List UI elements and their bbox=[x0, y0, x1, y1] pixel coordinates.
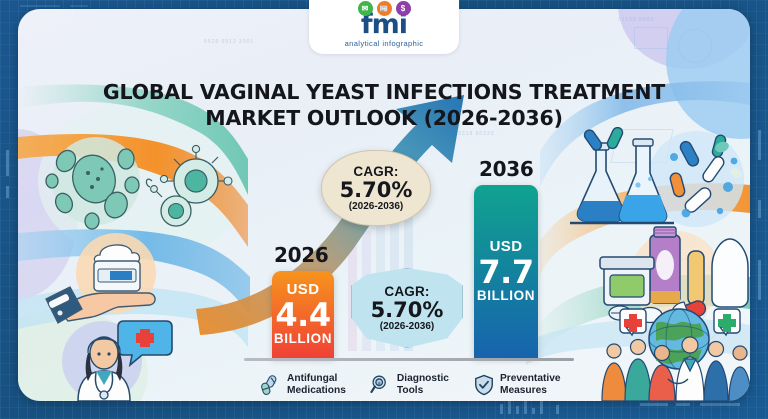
legend-item-preventative-measures[interactable]: Preventative Measures bbox=[473, 373, 561, 397]
bar-2026[interactable]: USD 4.4 BILLION bbox=[272, 271, 334, 358]
chart-baseline bbox=[244, 358, 574, 361]
email-dot-icon: ✉ bbox=[358, 1, 373, 16]
bar-year-label-2026: 2026 bbox=[274, 243, 328, 267]
fmi-logo[interactable]: ✉ 📰 $ fmi analytical infographic bbox=[309, 0, 459, 54]
legend-label-preventative-l1: Preventative bbox=[500, 373, 561, 385]
svg-text:a: a bbox=[378, 382, 381, 387]
cagr-upper-period: (2026-2036) bbox=[349, 201, 403, 212]
legend-label-diagnostic-l1: Diagnostic bbox=[397, 373, 449, 385]
cagr-lower-value: 5.70% bbox=[371, 299, 444, 321]
page-title: GLOBAL VAGINAL YEAST INFECTIONS TREATMEN… bbox=[18, 79, 750, 131]
legend-label-antifungal: Antifungal Medications bbox=[287, 373, 346, 397]
female-doctor-icon bbox=[54, 309, 174, 401]
infographic-frame: %0 814.553 · 0318 50233 01130 0903 5528 … bbox=[0, 0, 768, 419]
legend-item-diagnostic-tools[interactable]: a Diagnostic Tools bbox=[370, 373, 449, 397]
global-health-people-icon bbox=[594, 305, 750, 401]
cagr-upper-label: CAGR: bbox=[353, 164, 398, 179]
bar-value-2026: 4.4 bbox=[275, 299, 330, 332]
pills-icon bbox=[260, 374, 282, 396]
page-title-line2: MARKET OUTLOOK (2026-2036) bbox=[98, 105, 670, 131]
legend-label-antifungal-l2: Medications bbox=[287, 385, 346, 397]
logo-tagline: analytical infographic bbox=[345, 39, 424, 48]
logo-dots: ✉ 📰 $ bbox=[358, 1, 411, 16]
chart-legend: Antifungal Medications a Diagnostic Tool… bbox=[260, 373, 561, 397]
bar-2036[interactable]: USD 7.7 BILLION bbox=[474, 185, 538, 358]
bar-year-label-2036: 2036 bbox=[479, 157, 533, 181]
bar-value-2036: 7.7 bbox=[478, 256, 533, 289]
cagr-lower-period: (2026-2036) bbox=[380, 321, 434, 332]
page-title-line1: GLOBAL VAGINAL YEAST INFECTIONS TREATMEN… bbox=[98, 79, 670, 105]
microbes-icon bbox=[34, 129, 234, 239]
cagr-lower-label: CAGR: bbox=[384, 284, 429, 299]
magnifier-icon: a bbox=[370, 374, 392, 396]
cagr-upper-value: 5.70% bbox=[340, 179, 413, 201]
cagr-badge-upper: CAGR: 5.70% (2026-2036) bbox=[321, 150, 431, 226]
legend-label-diagnostic: Diagnostic Tools bbox=[397, 373, 449, 397]
legend-item-antifungal-medications[interactable]: Antifungal Medications bbox=[260, 373, 346, 397]
legend-label-antifungal-l1: Antifungal bbox=[287, 373, 346, 385]
legend-label-preventative: Preventative Measures bbox=[500, 373, 561, 397]
shield-check-icon bbox=[473, 374, 495, 396]
legend-label-diagnostic-l2: Tools bbox=[397, 385, 449, 397]
legend-label-preventative-l2: Measures bbox=[500, 385, 561, 397]
bar-unit-2036: BILLION bbox=[477, 288, 535, 304]
dollar-dot-icon: $ bbox=[396, 1, 411, 16]
cagr-badge-lower: CAGR: 5.70% (2026-2036) bbox=[351, 268, 463, 348]
infographic-card: %0 814.553 · 0318 50233 01130 0903 5528 … bbox=[18, 9, 750, 401]
bar-unit-2026: BILLION bbox=[274, 331, 332, 347]
news-dot-icon: 📰 bbox=[377, 1, 392, 16]
